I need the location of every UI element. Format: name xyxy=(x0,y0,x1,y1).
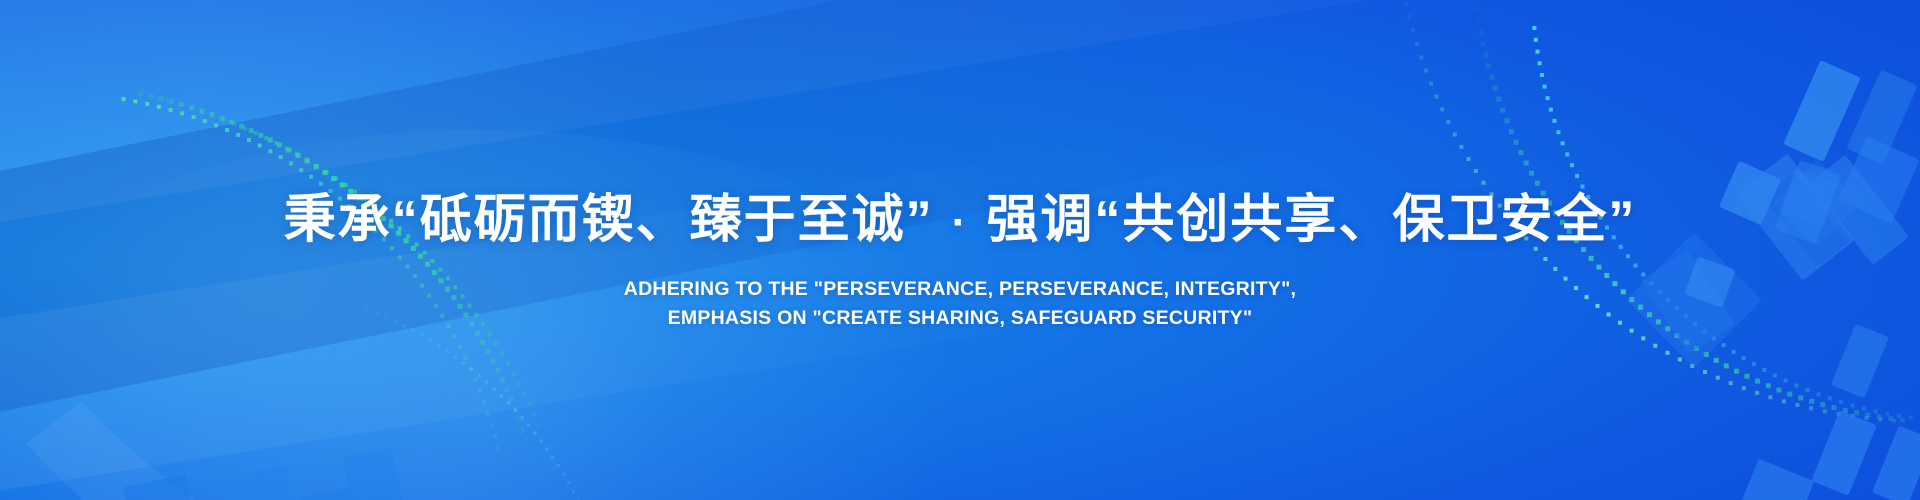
subtitle-line-one: ADHERING TO THE "PERSEVERANCE, PERSEVERA… xyxy=(624,275,1296,303)
headline-part-one: 秉承“砥砺而锲、臻于至诚” xyxy=(284,191,934,249)
headline-part-two: 强调“共创共享、保卫安全” xyxy=(986,191,1636,249)
subtitle-line-two: EMPHASIS ON "CREATE SHARING, SAFEGUARD S… xyxy=(624,304,1296,332)
banner-headline: 秉承“砥砺而锲、臻于至诚”·强调“共创共享、保卫安全” xyxy=(284,192,1637,249)
promo-banner: 秉承“砥砺而锲、臻于至诚”·强调“共创共享、保卫安全” ADHERING TO … xyxy=(0,0,1920,500)
banner-subtitle: ADHERING TO THE "PERSEVERANCE, PERSEVERA… xyxy=(624,275,1296,332)
headline-separator: · xyxy=(934,199,987,247)
banner-content: 秉承“砥砺而锲、臻于至诚”·强调“共创共享、保卫安全” ADHERING TO … xyxy=(0,0,1920,500)
